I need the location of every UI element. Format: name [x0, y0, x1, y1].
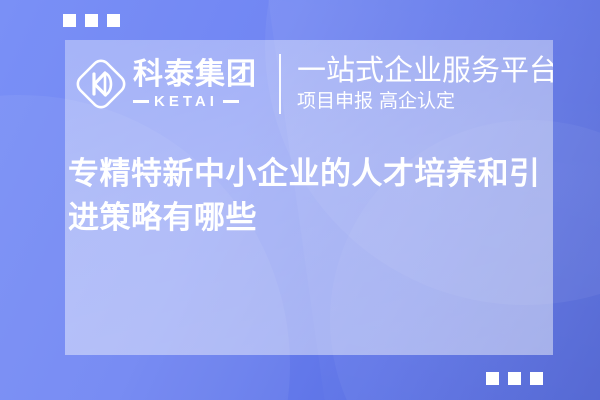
brand-wordmark: 科泰集团 KETAI — [133, 60, 257, 109]
square-dot-icon — [486, 372, 499, 385]
brand-name-cn: 科泰集团 — [133, 60, 257, 90]
square-dot-icon — [508, 372, 521, 385]
dots-decoration-bottom-right — [486, 372, 543, 385]
page-title-line-1: 专精特新中小企业的人才培养和引 — [68, 152, 553, 196]
tagline-block: 一站式企业服务平台 项目申报 高企认定 — [297, 54, 553, 114]
rule-left-decoration — [133, 100, 149, 103]
page-title-line-2: 进策略有哪些 — [68, 196, 553, 240]
square-dot-icon — [530, 372, 543, 385]
rule-right-decoration — [223, 100, 239, 103]
page-title: 专精特新中小企业的人才培养和引 进策略有哪些 — [68, 152, 553, 240]
square-dot-icon — [107, 14, 120, 27]
promotional-banner: 科泰集团 KETAI 一站式企业服务平台 项目申报 高企认定 专精特新中小企业的… — [0, 0, 600, 400]
brand-divider — [279, 54, 281, 114]
tagline-sub: 项目申报 高企认定 — [297, 89, 553, 114]
tagline-main: 一站式企业服务平台 — [297, 54, 553, 86]
content-panel: 科泰集团 KETAI 一站式企业服务平台 项目申报 高企认定 专精特新中小企业的… — [65, 40, 553, 355]
ketai-diamond-kd-monogram-icon — [75, 58, 127, 110]
dots-decoration-top-left — [63, 14, 120, 27]
brand-name-en: KETAI — [154, 94, 218, 109]
brand-header: 科泰集团 KETAI 一站式企业服务平台 项目申报 高企认定 — [73, 44, 553, 124]
square-dot-icon — [63, 14, 76, 27]
square-dot-icon — [85, 14, 98, 27]
brand-name-en-row: KETAI — [133, 94, 257, 109]
